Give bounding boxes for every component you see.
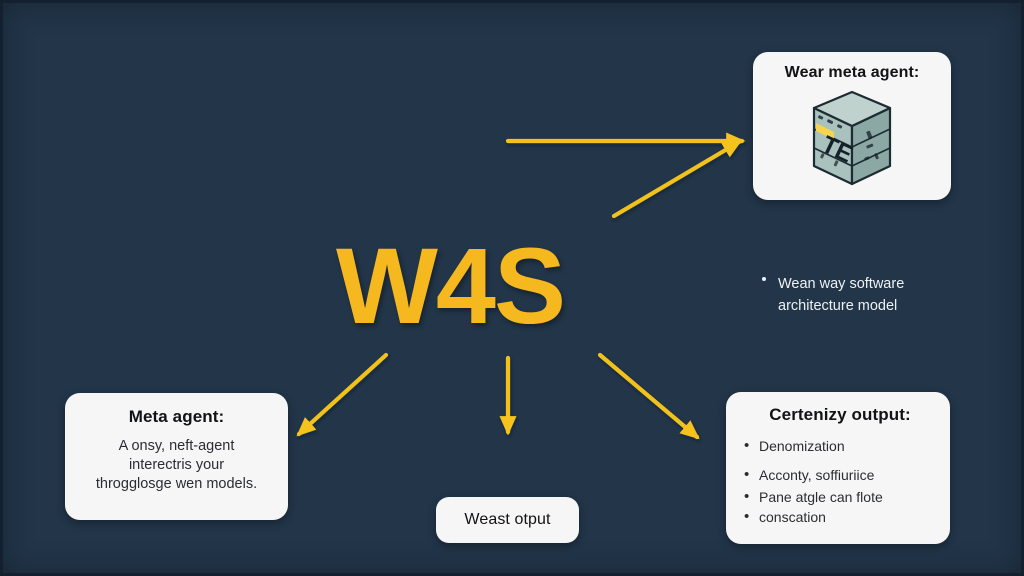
list-item: Pane atgle can flote	[742, 489, 938, 507]
note-right-architecture: Wean way software architecture model	[762, 274, 952, 318]
cube-illustration-wrap: TE	[763, 88, 941, 188]
isometric-cube-te-icon: TE	[804, 88, 900, 188]
list-item: Denomization	[742, 438, 938, 456]
list-item: Acconty, soffiuriice	[742, 467, 938, 485]
arrow-w4s-to-wear-meta-agent	[614, 142, 739, 216]
card-weast-output-label: Weast otput	[464, 511, 550, 529]
card-wear-meta-agent-title: Wear meta agent:	[763, 64, 941, 82]
arrow-w4s-to-certenizy-output	[600, 355, 697, 437]
card-meta-agent-body: A onsy, neft-agent interectris your thro…	[79, 437, 274, 494]
card-certenizy-output[interactable]: Certenizy output: Denomization Acconty, …	[726, 392, 950, 544]
card-meta-agent-body-line: A onsy, neft-agent	[79, 437, 274, 456]
arrow-w4s-to-meta-agent	[299, 355, 386, 434]
card-certenizy-output-title: Certenizy output:	[742, 405, 938, 425]
list-item-continuation: conscation	[742, 509, 938, 527]
bullet-dot-icon	[762, 277, 766, 281]
card-meta-agent-body-line: interectris your	[79, 456, 274, 475]
card-meta-agent-title: Meta agent:	[79, 407, 274, 427]
page-title-w4s: W4S	[336, 232, 564, 340]
card-weast-output[interactable]: Weast otput	[436, 497, 579, 543]
diagram-canvas: W4S Wear meta agent: TE	[0, 0, 1024, 576]
card-meta-agent[interactable]: Meta agent: A onsy, neft-agent interectr…	[65, 393, 288, 520]
certenizy-output-bullet-list: Denomization Acconty, soffiuriice Pane a…	[742, 438, 938, 526]
note-right-line1: Wean way software	[762, 274, 952, 296]
card-meta-agent-body-line: throgglosge wen models.	[79, 475, 274, 494]
card-wear-meta-agent[interactable]: Wear meta agent: TE	[753, 52, 951, 200]
note-right-line2: architecture model	[762, 296, 952, 318]
